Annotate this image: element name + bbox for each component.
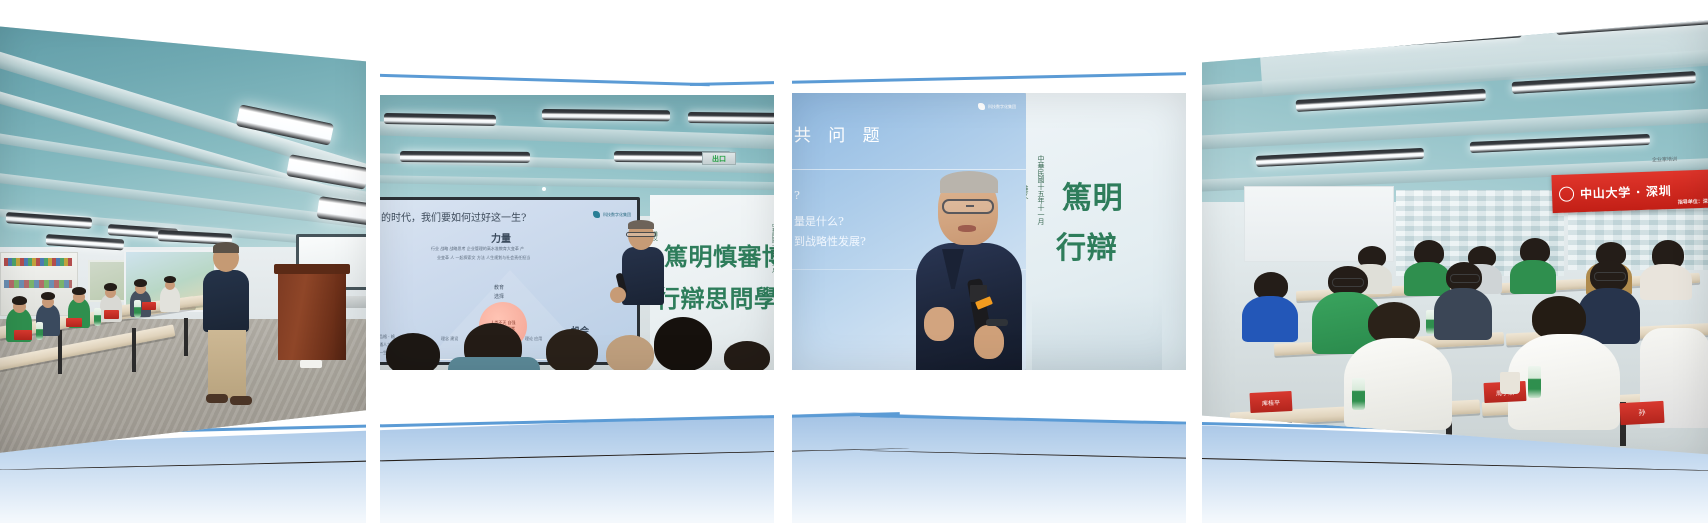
speaker-glasses	[626, 232, 656, 237]
audience-head-silhouette	[606, 335, 654, 370]
table-nameplate	[104, 310, 119, 319]
speaker-hair	[628, 220, 654, 229]
event-banner-subtitle: 指导单位：深圳市	[1678, 197, 1708, 205]
books-row	[4, 258, 72, 266]
slide-label-left: 理念 建设	[441, 336, 458, 342]
person-hair	[164, 276, 176, 283]
speaker-hand-left	[924, 307, 954, 341]
calligraphy-line-1: 篤明慎審博	[664, 237, 776, 272]
table-nameplate: 库桂平	[1250, 391, 1293, 413]
ceiling-light-strip	[400, 151, 530, 163]
instructor-trousers	[208, 330, 246, 398]
table-nameplate	[142, 302, 156, 310]
lecture-with-slide-scene: 出口 的时代，我们要如何过好这一生? 科技数字化集团 力量 行业 战略 战略思考…	[378, 95, 776, 370]
blue-slide-logo: 科技数字化集团	[978, 103, 1016, 110]
ceiling-light-strip	[688, 112, 776, 124]
blue-slide-logo-label: 科技数字化集团	[988, 104, 1016, 110]
classroom-wide-scene	[0, 12, 370, 464]
nameplate-label: 库桂平	[1262, 397, 1280, 407]
slide-center-top-2: 选择	[494, 293, 504, 300]
exit-sign: 出口	[702, 152, 736, 165]
water-bottle	[36, 322, 43, 340]
slide-title: 的时代，我们要如何过好这一生?	[381, 209, 526, 224]
calligraphy-vertical-left: 雄又	[1026, 185, 1030, 199]
water-bottle	[134, 300, 141, 318]
gutter-left	[366, 0, 380, 523]
table-nameplate	[66, 318, 82, 327]
table-leg	[184, 318, 188, 356]
blue-slide-line-2: 量是什么?	[794, 213, 844, 229]
slide-keyword-top: 力量	[491, 230, 511, 245]
audience-head-silhouette	[386, 333, 440, 370]
audience-person	[1510, 260, 1556, 294]
audience-head-silhouette	[654, 317, 712, 370]
slide-body-line-1: 行业 战略 战略思考 企业管理的高水准教育大变革 产	[431, 246, 524, 252]
university-seal-icon	[1559, 186, 1575, 202]
person-hair	[134, 279, 147, 287]
books-row	[4, 280, 72, 288]
ceiling-light-strip	[542, 109, 670, 121]
table-nameplate: 孙	[1619, 401, 1664, 425]
company-logo-icon	[593, 211, 600, 218]
water-bottle	[1352, 378, 1365, 410]
audience-person	[1404, 262, 1450, 296]
banner-caption-top: 企业家培训	[1652, 156, 1677, 164]
slide-label-right: 理论 应用	[525, 336, 542, 342]
blue-slide-line-1: ?	[794, 189, 800, 202]
blue-slide-title: 共 问 题	[794, 121, 886, 146]
lectern	[278, 268, 346, 360]
top-left-mask	[0, 0, 400, 26]
audience-person	[1640, 264, 1692, 300]
instructor-hair	[213, 242, 239, 253]
calligraphy-vertical-right: 中華民國十五年十一月	[1036, 155, 1046, 225]
speaker-watch	[986, 319, 1008, 326]
speaker-hand-right	[974, 325, 1004, 359]
gallery-photo-outer-left[interactable]	[0, 12, 370, 464]
person-hair	[104, 283, 117, 291]
audience-glasses	[1332, 278, 1364, 287]
audience-person	[1434, 288, 1492, 340]
ceiling-light-dot	[542, 187, 546, 191]
gutter-right	[1186, 0, 1202, 523]
audience-glasses	[1450, 274, 1480, 283]
slide-logo: 科技数字化集团	[593, 211, 631, 218]
slide-body-line-2: 业变革 人 一起探索文 方法 人生规划与社会责任担当	[437, 255, 530, 261]
wall-illustration	[1032, 296, 1162, 370]
top-right-mask	[1180, 0, 1708, 24]
speaker-closeup-scene: 共 问 题 ? 量是什么? 到战略性发展? 科技数字化集团 篤明 行辯 中華民國…	[790, 93, 1188, 370]
floor-paper	[300, 360, 322, 368]
speaker-glasses-bridge	[966, 205, 974, 207]
nameplate-label: 孙	[1638, 408, 1646, 418]
slide-divider	[790, 169, 1026, 170]
audience-shoulder	[448, 357, 540, 370]
audience-head-silhouette	[546, 329, 598, 370]
person-hair	[12, 296, 27, 305]
event-banner-title: 中山大学 · 深圳	[1580, 181, 1672, 201]
speaker-mouth	[958, 225, 976, 232]
company-logo-icon	[978, 103, 985, 110]
slide-logo-label: 科技数字化集团	[603, 212, 631, 218]
person-hair	[41, 292, 55, 300]
photo-gallery-banner: 出口 的时代，我们要如何过好这一生? 科技数字化集团 力量 行业 战略 战略思考…	[0, 0, 1708, 523]
blue-slide-line-3: 到战略性发展?	[794, 233, 866, 249]
audience-seated-scene: 中山大学 · 深圳 指导单位：深圳市 企业家培训	[1200, 10, 1708, 468]
water-bottle	[1528, 366, 1541, 398]
speaker-torso	[916, 243, 1022, 370]
gutter-center	[774, 0, 792, 523]
audience-head-silhouette	[724, 341, 770, 370]
slide-center-top: 教育	[494, 284, 504, 291]
calligraphy-line-2: 行辯思問學	[656, 279, 776, 314]
exit-sign-label: 出口	[712, 154, 726, 164]
speaker-torso	[622, 247, 664, 305]
instructor-shoe	[230, 396, 252, 405]
table-leg	[58, 330, 62, 374]
gallery-photo-inner-left[interactable]: 出口 的时代，我们要如何过好这一生? 科技数字化集团 力量 行业 战略 战略思考…	[378, 95, 776, 370]
instructor-shoe	[206, 394, 228, 403]
lectern-top	[274, 264, 350, 274]
calligraphy-line-2: 行辯	[1056, 223, 1117, 267]
speaker-hair	[940, 171, 998, 193]
coffee-cup	[1500, 372, 1520, 394]
gallery-photo-inner-right[interactable]: 共 问 题 ? 量是什么? 到战略性发展? 科技数字化集团 篤明 行辯 中華民國…	[790, 93, 1188, 370]
person-hair	[72, 287, 86, 295]
table-leg	[132, 328, 136, 372]
calligraphy-line-1: 篤明	[1062, 173, 1123, 217]
water-bottle	[94, 308, 101, 326]
audience-person-blue	[1242, 296, 1298, 342]
calligraphy-wall: 篤明 行辯 中華民國十五年十一月 雄又	[1026, 93, 1188, 370]
gallery-photo-outer-right[interactable]: 中山大学 · 深圳 指导单位：深圳市 企业家培训	[1200, 10, 1708, 468]
audience-glasses	[1594, 272, 1626, 281]
ceiling-light-strip	[384, 113, 496, 126]
event-banner: 中山大学 · 深圳 指导单位：深圳市	[1551, 169, 1708, 213]
table-nameplate	[14, 330, 32, 340]
instructor-torso	[203, 270, 249, 332]
speaker-hand	[610, 287, 626, 303]
